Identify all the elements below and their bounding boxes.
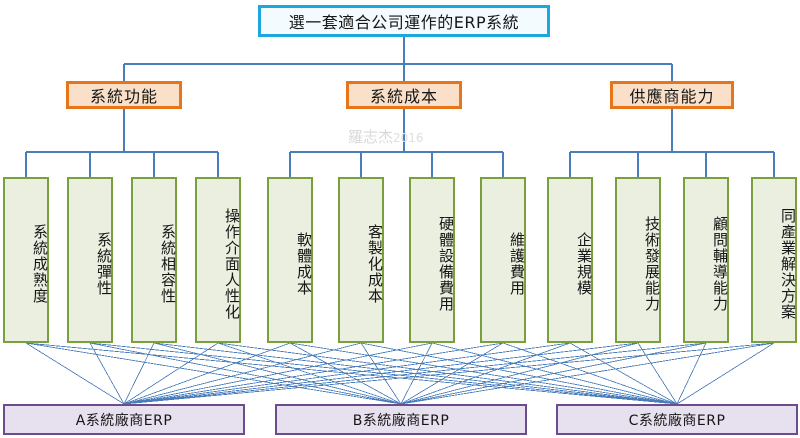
subcriteria-node-consulting-capability: 顧問輔導能力: [683, 177, 729, 343]
watermark-name: 羅志杰: [348, 128, 393, 146]
watermark: 羅志杰2016: [348, 126, 424, 147]
subcriteria-label: 同產業解決方案: [779, 208, 795, 320]
subcriteria-label: 企業規模: [575, 232, 591, 296]
alternative-label: C系統廠商ERP: [629, 410, 726, 430]
subcriteria-node-customization-cost: 客製化成本: [338, 177, 384, 343]
subcriteria-label: 技術發展能力: [643, 216, 659, 312]
subcriteria-label: 系統成熟度: [31, 224, 47, 304]
alternative-node-vendor-a: A系統廠商ERP: [3, 404, 245, 435]
criteria-label: 供應商能力: [629, 83, 714, 107]
subcriteria-node-system-compatibility: 系統相容性: [131, 177, 177, 343]
watermark-year: 2016: [393, 131, 424, 145]
subcriteria-label: 系統彈性: [95, 232, 111, 296]
criteria-label: 系統成本: [370, 83, 438, 107]
subcriteria-node-industry-solution: 同產業解決方案: [751, 177, 797, 343]
subcriteria-node-tech-development: 技術發展能力: [615, 177, 661, 343]
subcriteria-node-hardware-cost: 硬體設備費用: [409, 177, 455, 343]
criteria-node-supplier-capability: 供應商能力: [610, 81, 734, 109]
criteria-node-system-function: 系統功能: [66, 81, 182, 109]
subcriteria-label: 顧問輔導能力: [711, 216, 727, 312]
subcriteria-label: 系統相容性: [159, 224, 175, 304]
alternative-label: B系統廠商ERP: [353, 410, 450, 430]
subcriteria-node-company-scale: 企業規模: [547, 177, 593, 343]
alternative-label: A系統廠商ERP: [76, 410, 173, 430]
subcriteria-label: 操作介面人性化: [223, 208, 239, 320]
subcriteria-label: 客製化成本: [366, 224, 382, 304]
subcriteria-node-software-cost: 軟體成本: [267, 177, 313, 343]
connector-lines-layer: [0, 0, 800, 438]
subcriteria-label: 硬體設備費用: [437, 216, 453, 312]
subcriteria-node-maintenance-cost: 維護費用: [480, 177, 526, 343]
subcriteria-node-ui-usability: 操作介面人性化: [195, 177, 241, 343]
subcriteria-label: 軟體成本: [295, 232, 311, 296]
alternative-node-vendor-c: C系統廠商ERP: [556, 404, 798, 435]
alternative-node-vendor-b: B系統廠商ERP: [275, 404, 527, 435]
criteria-label: 系統功能: [90, 83, 158, 107]
ahp-hierarchy-diagram: 選一套適合公司運作的ERP系統 羅志杰2016 系統功能 系統成本 供應商能力 …: [0, 0, 800, 438]
goal-node: 選一套適合公司運作的ERP系統: [258, 5, 550, 37]
criteria-node-system-cost: 系統成本: [346, 81, 462, 109]
goal-node-label: 選一套適合公司運作的ERP系統: [289, 9, 519, 33]
subcriteria-node-system-maturity: 系統成熟度: [3, 177, 49, 343]
subcriteria-label: 維護費用: [508, 232, 524, 296]
subcriteria-node-system-flexibility: 系統彈性: [67, 177, 113, 343]
